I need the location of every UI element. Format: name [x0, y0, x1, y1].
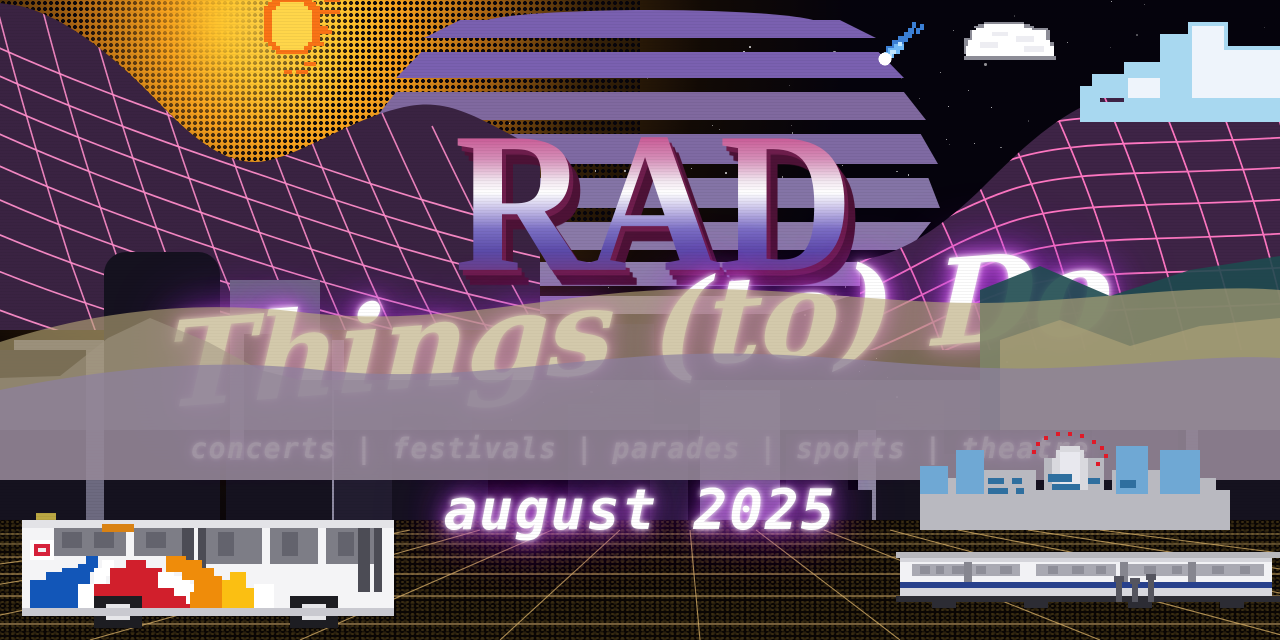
retro-event-poster: RAD Things (to) Do concerts | festivals …	[0, 0, 1280, 640]
pixel-stadium-icon	[920, 430, 1230, 530]
pixel-comet-icon	[872, 18, 936, 80]
pixel-cloud-icon	[952, 18, 1088, 74]
pixel-transit-bus-icon	[6, 512, 410, 628]
pixel-light-rail-train-icon	[896, 552, 1280, 610]
pixel-cloud-blue-icon	[1080, 14, 1280, 144]
